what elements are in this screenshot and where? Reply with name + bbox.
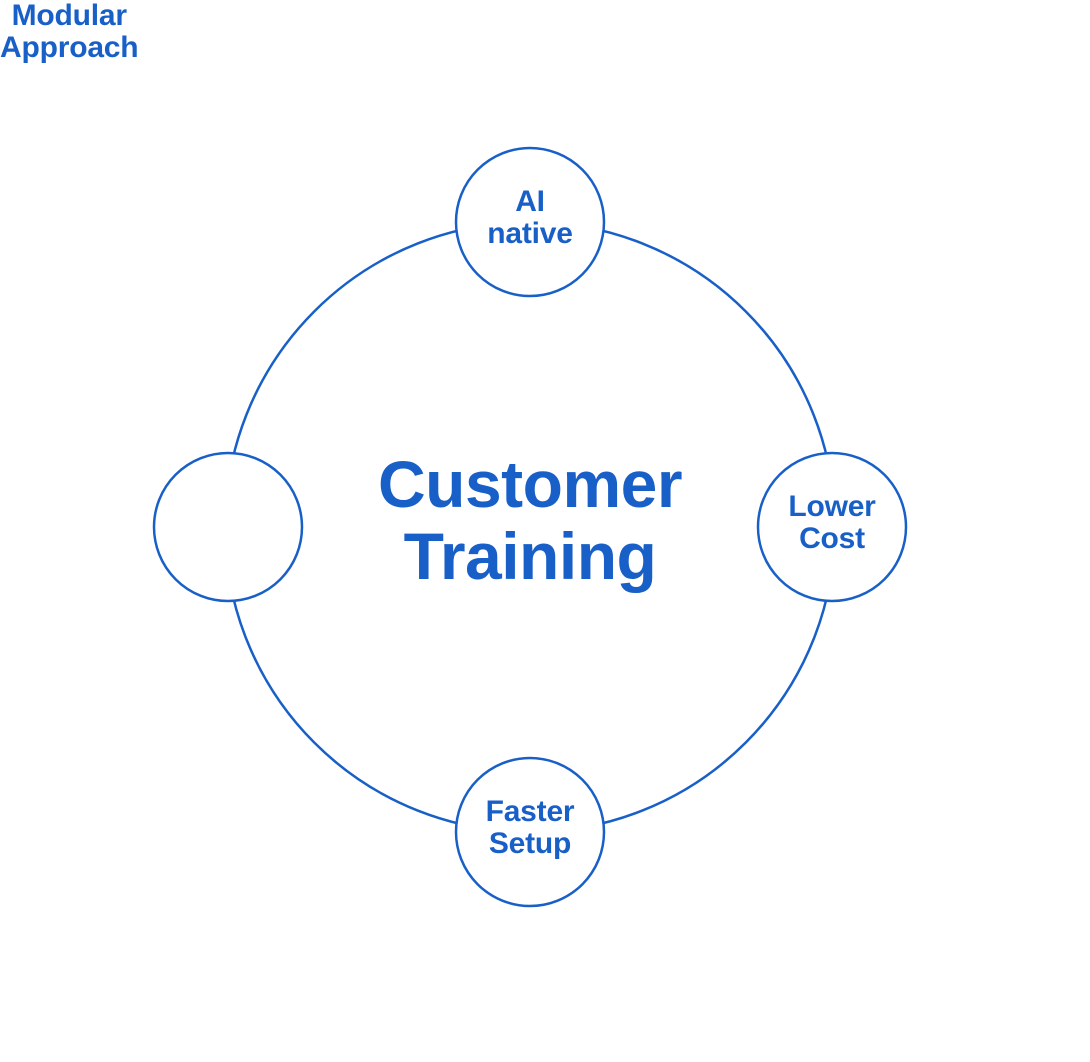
center-title-line-1: Customer [378, 447, 682, 521]
node-label-lower-cost[interactable]: Lower Cost [732, 491, 932, 556]
center-title-line-2: Training [404, 519, 657, 593]
node-label-lower-cost-line-2: Cost [799, 522, 865, 555]
node-label-ai-native-line-2: native [487, 217, 573, 250]
node-label-modular-approach-line-2: Approach [0, 31, 138, 64]
node-label-faster-setup-line-1: Faster [486, 795, 575, 828]
diagram-canvas: Customer Training AI native Lower Cost F… [0, 0, 1090, 1062]
center-title: Customer Training [280, 449, 780, 593]
node-label-lower-cost-line-1: Lower [788, 490, 875, 523]
node-label-ai-native[interactable]: AI native [430, 186, 630, 251]
node-label-modular-approach[interactable]: Modular Approach [0, 0, 138, 65]
node-label-ai-native-line-1: AI [515, 185, 545, 218]
node-label-modular-approach-line-1: Modular [12, 0, 127, 32]
node-label-faster-setup-line-2: Setup [489, 827, 571, 860]
node-label-faster-setup[interactable]: Faster Setup [430, 796, 630, 861]
